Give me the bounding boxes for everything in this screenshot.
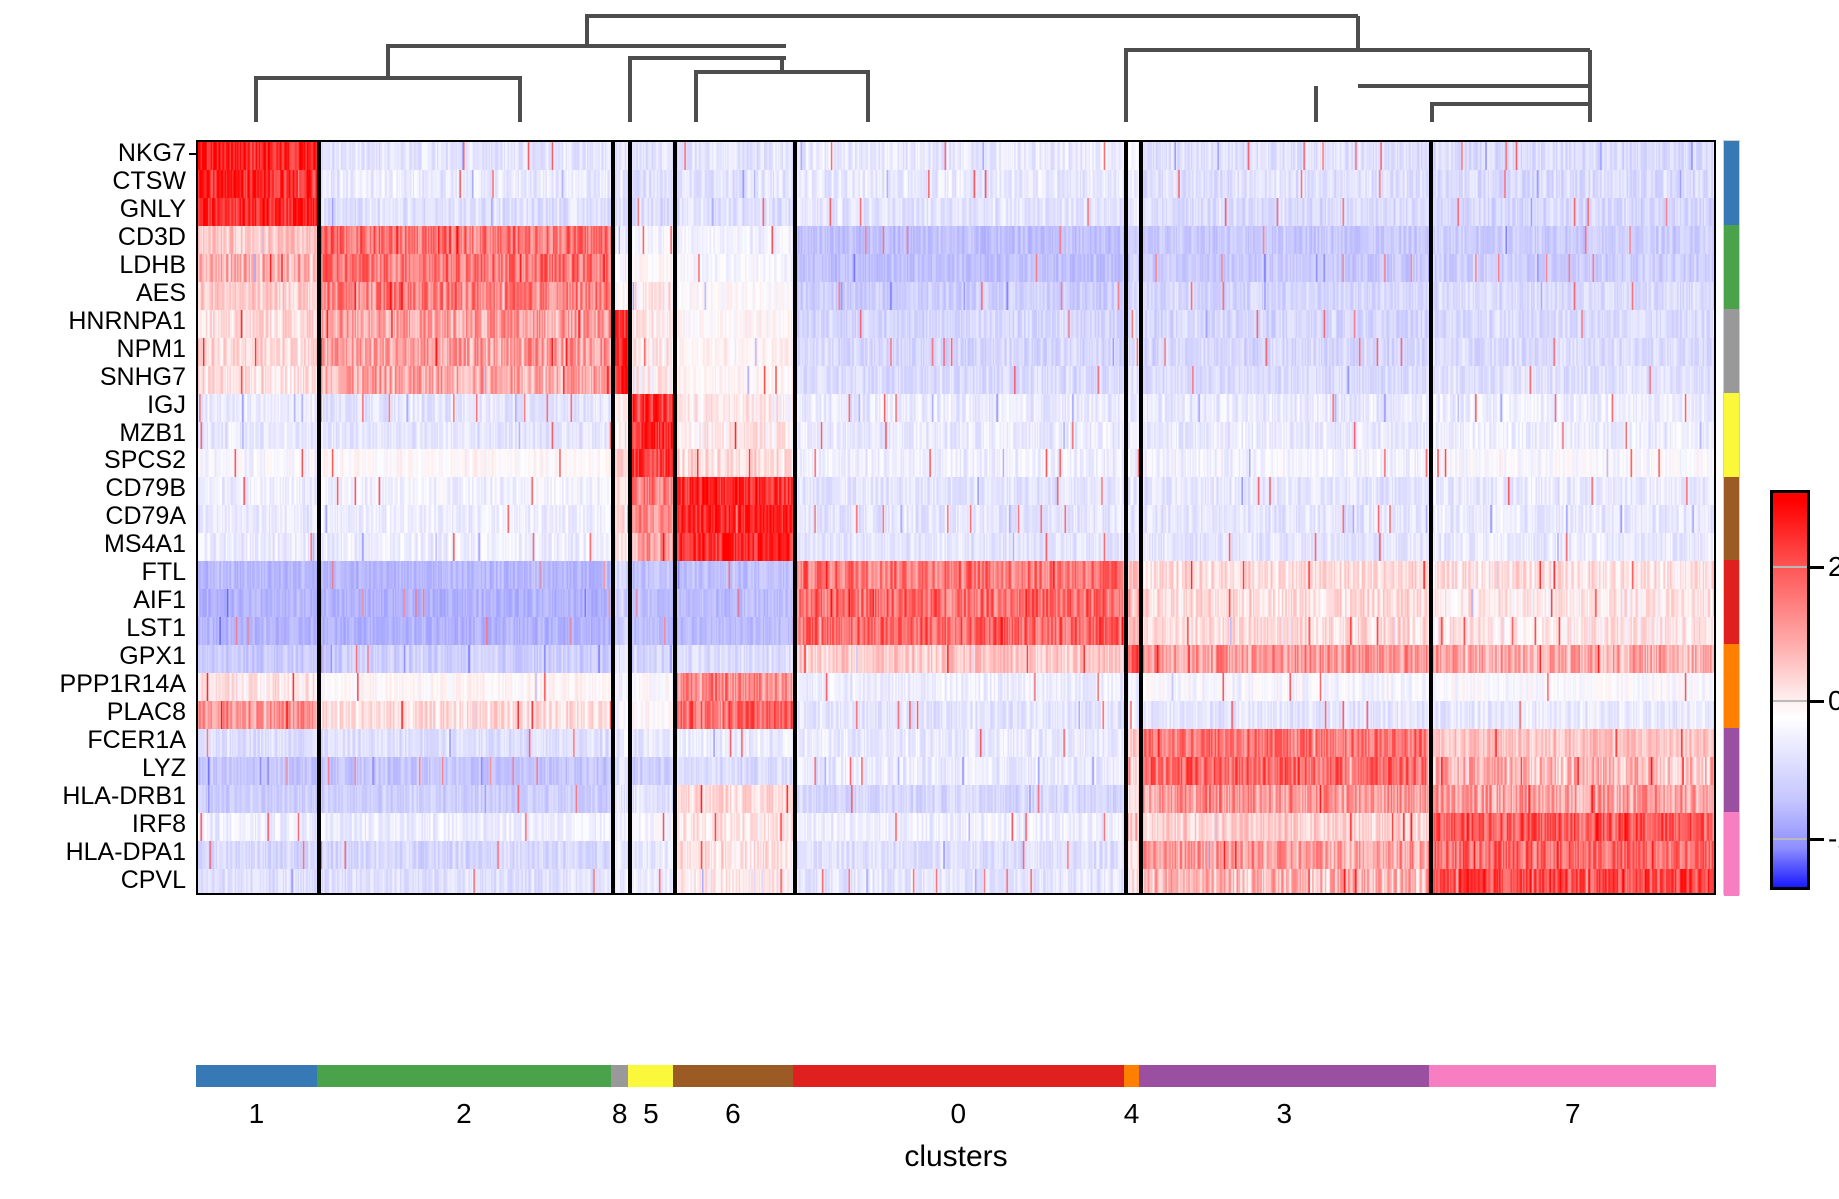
gene-label-spcs2: SPCS2 <box>0 447 196 475</box>
row-annotation-block-yellow <box>1724 393 1739 477</box>
cluster-separator <box>628 142 632 893</box>
heatmap-row <box>198 338 1714 366</box>
heatmap-row-canvas-igj <box>198 394 1714 422</box>
row-annotation-block-gray <box>1724 309 1739 393</box>
colorbar-tick-0 <box>1810 700 1824 703</box>
heatmap-row-canvas-gnly <box>198 198 1714 226</box>
heatmap-row <box>198 226 1714 254</box>
heatmap-row-canvas-npm1 <box>198 338 1714 366</box>
heatmap-row <box>198 282 1714 310</box>
colorbar-inner-line-minus2 <box>1773 838 1807 840</box>
colorbar-label-minus2: -2 <box>1828 823 1839 855</box>
heatmap-row-canvas-gpx1 <box>198 645 1714 673</box>
heatmap-row <box>198 533 1714 561</box>
gene-label-ftl: FTL <box>0 559 196 587</box>
row-annotation-block-brown <box>1724 477 1739 561</box>
cluster-label-3: 3 <box>1244 1098 1324 1130</box>
gene-label-nkg7: NKG7 <box>0 140 196 168</box>
heatmap-row <box>198 394 1714 422</box>
heatmap-row <box>198 198 1714 226</box>
column-dendrogram <box>196 0 1716 140</box>
heatmap-row-canvas-hla-dpa1 <box>198 841 1714 869</box>
x-axis-title: clusters <box>196 1140 1716 1174</box>
heatmap-row-canvas-fcer1a <box>198 729 1714 757</box>
colorbar-tick-2 <box>1810 566 1824 569</box>
heatmap-row-canvas-ms4a1 <box>198 533 1714 561</box>
heatmap-row-canvas-hnrnpa1 <box>198 310 1714 338</box>
heatmap-row-canvas-aif1 <box>198 589 1714 617</box>
heatmap-row-canvas-plac8 <box>198 701 1714 729</box>
gene-label-ms4a1: MS4A1 <box>0 531 196 559</box>
heatmap-row-canvas-cd3d <box>198 226 1714 254</box>
row-annotation-block-purple <box>1724 728 1739 812</box>
cluster-block-7[interactable] <box>1429 1065 1716 1087</box>
gene-label-ppp1r14a: PPP1R14A <box>0 671 196 699</box>
heatmap-row <box>198 170 1714 198</box>
gene-label-cpvl: CPVL <box>0 867 196 895</box>
heatmap-row-canvas-ppp1r14a <box>198 673 1714 701</box>
row-annotation-strip <box>1723 140 1740 895</box>
heatmap-row <box>198 729 1714 757</box>
cluster-separator <box>611 142 615 893</box>
cluster-label-7: 7 <box>1533 1098 1613 1130</box>
cluster-separator <box>317 142 321 893</box>
cluster-separator <box>793 142 797 893</box>
gene-label-cd79b: CD79B <box>0 475 196 503</box>
gene-label-fcer1a: FCER1A <box>0 727 196 755</box>
heatmap-row <box>198 310 1714 338</box>
heatmap-row <box>198 645 1714 673</box>
heatmap-row-canvas-cpvl <box>198 869 1714 895</box>
heatmap-row <box>198 505 1714 533</box>
heatmap-row <box>198 561 1714 589</box>
gene-label-npm1: NPM1 <box>0 336 196 364</box>
gene-label-hla-drb1: HLA-DRB1 <box>0 783 196 811</box>
cluster-label-1: 1 <box>216 1098 296 1130</box>
heatmap-row-canvas-aes <box>198 282 1714 310</box>
colorbar-label-0: 0 <box>1828 685 1839 717</box>
gene-label-snhg7: SNHG7 <box>0 364 196 392</box>
heatmap-figure: NKG7CTSWGNLYCD3DLDHBAESHNRNPA1NPM1SNHG7I… <box>0 0 1839 1199</box>
cluster-block-3[interactable] <box>1139 1065 1429 1087</box>
heatmap-row-canvas-cd79b <box>198 477 1714 505</box>
cluster-block-4[interactable] <box>1124 1065 1139 1087</box>
heatmap-row-canvas-hla-drb1 <box>198 785 1714 813</box>
row-tick <box>189 153 196 155</box>
heatmap-row-canvas-ldhb <box>198 254 1714 282</box>
gene-label-lst1: LST1 <box>0 615 196 643</box>
cluster-label-4: 4 <box>1092 1098 1172 1130</box>
heatmap-row <box>198 589 1714 617</box>
heatmap-row <box>198 673 1714 701</box>
gene-label-irf8: IRF8 <box>0 811 196 839</box>
colorbar-inner-line-2 <box>1773 566 1807 568</box>
heatmap-grid[interactable] <box>196 140 1716 895</box>
cluster-label-6: 6 <box>693 1098 773 1130</box>
row-annotation-block-pink <box>1724 812 1739 896</box>
cluster-separator <box>1429 142 1433 893</box>
colorbar-inner-line-0 <box>1773 700 1807 702</box>
cluster-block-8[interactable] <box>611 1065 628 1087</box>
gene-label-gnly: GNLY <box>0 196 196 224</box>
gene-label-ctsw: CTSW <box>0 168 196 196</box>
cluster-label-5: 5 <box>611 1098 691 1130</box>
gene-label-plac8: PLAC8 <box>0 699 196 727</box>
heatmap-row <box>198 142 1714 170</box>
heatmap-row-canvas-lyz <box>198 757 1714 785</box>
heatmap-row-canvas-ctsw <box>198 170 1714 198</box>
cluster-block-1[interactable] <box>196 1065 317 1087</box>
heatmap-row <box>198 422 1714 450</box>
heatmap-row <box>198 785 1714 813</box>
heatmap-row <box>198 449 1714 477</box>
cluster-block-0[interactable] <box>793 1065 1124 1087</box>
gene-label-gpx1: GPX1 <box>0 643 196 671</box>
gene-row-labels: NKG7CTSWGNLYCD3DLDHBAESHNRNPA1NPM1SNHG7I… <box>0 140 196 895</box>
heatmap-row-canvas-mzb1 <box>198 422 1714 450</box>
cluster-block-2[interactable] <box>317 1065 611 1087</box>
heatmap-row-canvas-snhg7 <box>198 366 1714 394</box>
gene-label-igj: IGJ <box>0 392 196 420</box>
heatmap-row <box>198 869 1714 895</box>
cluster-separator <box>1124 142 1128 893</box>
gene-label-lyz: LYZ <box>0 755 196 783</box>
cluster-label-0: 0 <box>918 1098 998 1130</box>
gene-label-aes: AES <box>0 280 196 308</box>
heatmap-row <box>198 813 1714 841</box>
gene-label-cd3d: CD3D <box>0 224 196 252</box>
dendrogram-svg <box>196 0 1716 140</box>
heatmap-row <box>198 617 1714 645</box>
gene-label-aif1: AIF1 <box>0 587 196 615</box>
cluster-label-2: 2 <box>424 1098 504 1130</box>
gene-label-mzb1: MZB1 <box>0 420 196 448</box>
colorbar-tick-minus2 <box>1810 838 1824 841</box>
gene-label-hla-dpa1: HLA-DPA1 <box>0 839 196 867</box>
gene-label-ldhb: LDHB <box>0 252 196 280</box>
heatmap-panel <box>196 140 1716 895</box>
heatmap-row <box>198 757 1714 785</box>
cluster-tick-labels: 128560437 <box>196 1098 1716 1138</box>
gene-label-cd79a: CD79A <box>0 503 196 531</box>
row-annotation-block-red <box>1724 560 1739 644</box>
cluster-block-5[interactable] <box>628 1065 673 1087</box>
heatmap-row <box>198 701 1714 729</box>
heatmap-row <box>198 254 1714 282</box>
heatmap-row-canvas-lst1 <box>198 617 1714 645</box>
row-annotation-block-green <box>1724 225 1739 309</box>
gene-label-hnrnpa1: HNRNPA1 <box>0 308 196 336</box>
heatmap-row <box>198 477 1714 505</box>
colorbar <box>1770 490 1810 890</box>
row-annotation-block-orange <box>1724 644 1739 728</box>
heatmap-row-canvas-cd79a <box>198 505 1714 533</box>
heatmap-row <box>198 366 1714 394</box>
heatmap-row-canvas-nkg7 <box>198 142 1714 170</box>
heatmap-row-canvas-irf8 <box>198 813 1714 841</box>
heatmap-row-canvas-ftl <box>198 561 1714 589</box>
cluster-color-strip <box>196 1065 1716 1087</box>
row-annotation-block-blue <box>1724 141 1739 225</box>
heatmap-row <box>198 841 1714 869</box>
cluster-separator <box>673 142 677 893</box>
cluster-block-6[interactable] <box>673 1065 792 1087</box>
colorbar-label-2: 2 <box>1828 551 1839 583</box>
cluster-separator <box>1139 142 1143 893</box>
heatmap-row-canvas-spcs2 <box>198 449 1714 477</box>
